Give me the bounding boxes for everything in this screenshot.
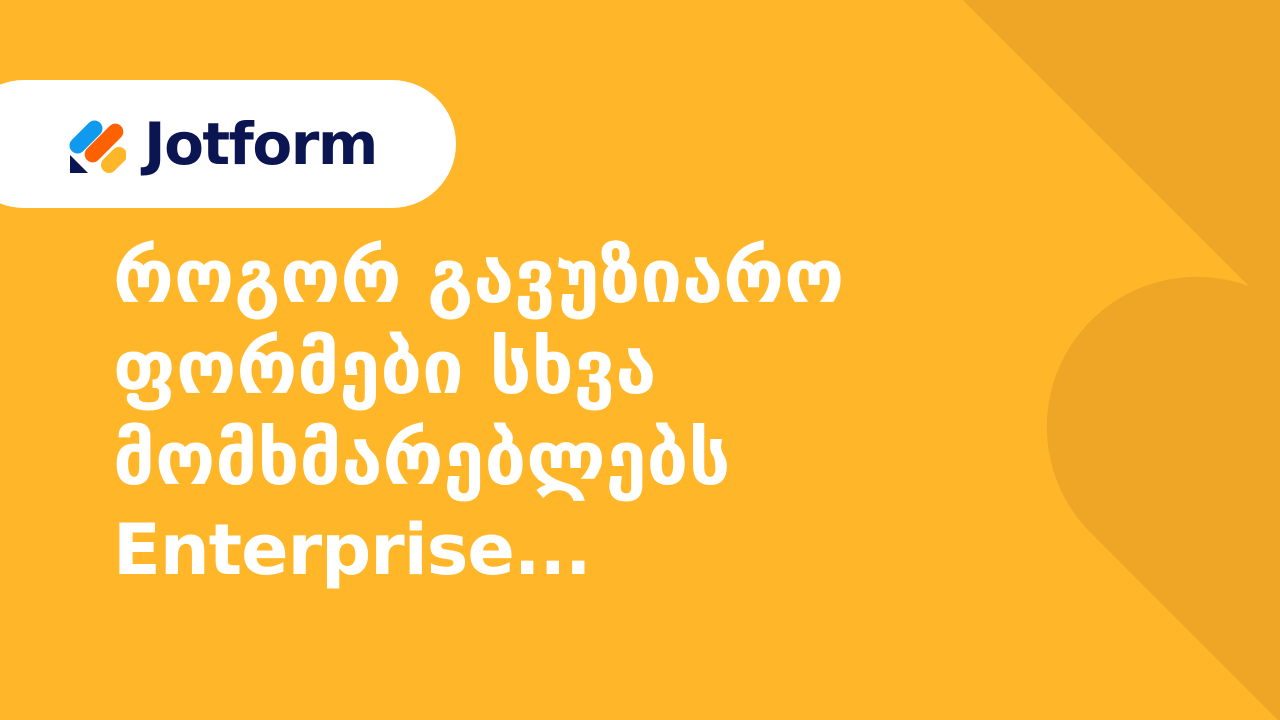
share-card: Jotform როგორ გავუზიარო ფორმები სხვა მომ… — [0, 0, 1280, 720]
logo-badge: Jotform — [0, 80, 456, 208]
jotform-wordmark: Jotform — [144, 115, 377, 173]
jotform-logo-icon — [68, 113, 126, 175]
headline-line-3: მომხმარებლებს — [113, 414, 913, 505]
headline-line-2: ფორმები სხვა — [113, 323, 913, 414]
brand-lockup: Jotform — [68, 113, 377, 175]
decorative-capsule-3 — [985, 215, 1280, 720]
headline: როგორ გავუზიარო ფორმები სხვა მომხმარებლე… — [113, 232, 913, 596]
headline-line-4: Enterprise... — [113, 505, 913, 596]
headline-line-1: როგორ გავუზიარო — [113, 232, 913, 323]
